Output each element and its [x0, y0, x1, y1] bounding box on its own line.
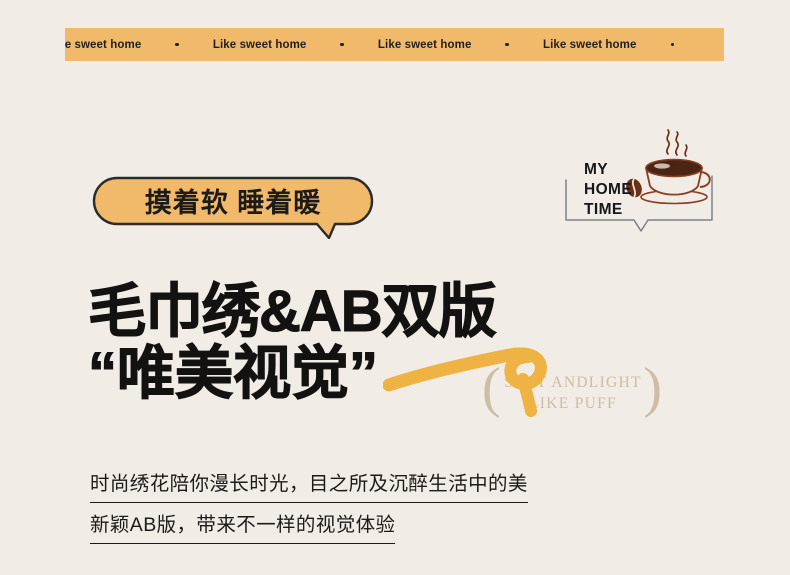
description-line-2: 新颖AB版，带来不一样的视觉体验	[90, 509, 395, 544]
marquee-text: Like sweet home	[378, 39, 472, 51]
brand-logo: MY HOME TIME	[562, 124, 722, 244]
marquee-item: Like sweet home	[543, 39, 708, 51]
marquee-item: Like sweet home	[213, 39, 378, 51]
marquee-text: Like sweet home	[213, 39, 307, 51]
promo-banner-page: Like sweet home Like sweet home Like swe…	[0, 0, 790, 575]
coffee-cup-icon	[624, 128, 716, 210]
headline-block: 毛巾绣&AB双版 “唯美视觉”	[88, 281, 708, 405]
marquee-text: Like sweet home	[543, 39, 637, 51]
bullet-dot-icon	[505, 43, 509, 47]
logo-line-1: MY	[584, 160, 632, 180]
headline-line-1: 毛巾绣&AB双版	[88, 281, 708, 343]
logo-wordmark: MY HOME TIME	[584, 160, 632, 220]
logo-line-2: HOME	[584, 180, 632, 200]
description-row: 时尚绣花陪你漫长时光，目之所及沉醉生活中的美	[90, 468, 650, 503]
description-line-1: 时尚绣花陪你漫长时光，目之所及沉醉生活中的美	[90, 468, 528, 503]
description-row: 新颖AB版，带来不一样的视觉体验	[90, 509, 650, 544]
bullet-dot-icon	[340, 43, 344, 47]
marquee-text: Like sweet home	[65, 39, 141, 51]
marquee-item: Like sweet home	[65, 39, 213, 51]
bullet-dot-icon	[175, 43, 179, 47]
marquee-item: Like sweet home	[378, 39, 543, 51]
callout-bubble: 摸着软 睡着暖	[92, 176, 374, 239]
bullet-dot-icon	[671, 43, 675, 47]
logo-line-3: TIME	[584, 200, 632, 220]
callout-bubble-label: 摸着软 睡着暖	[92, 176, 374, 224]
marquee-banner: Like sweet home Like sweet home Like swe…	[65, 28, 724, 61]
description-block: 时尚绣花陪你漫长时光，目之所及沉醉生活中的美 新颖AB版，带来不一样的视觉体验	[90, 468, 650, 550]
headline-line-2: “唯美视觉”	[88, 343, 708, 405]
